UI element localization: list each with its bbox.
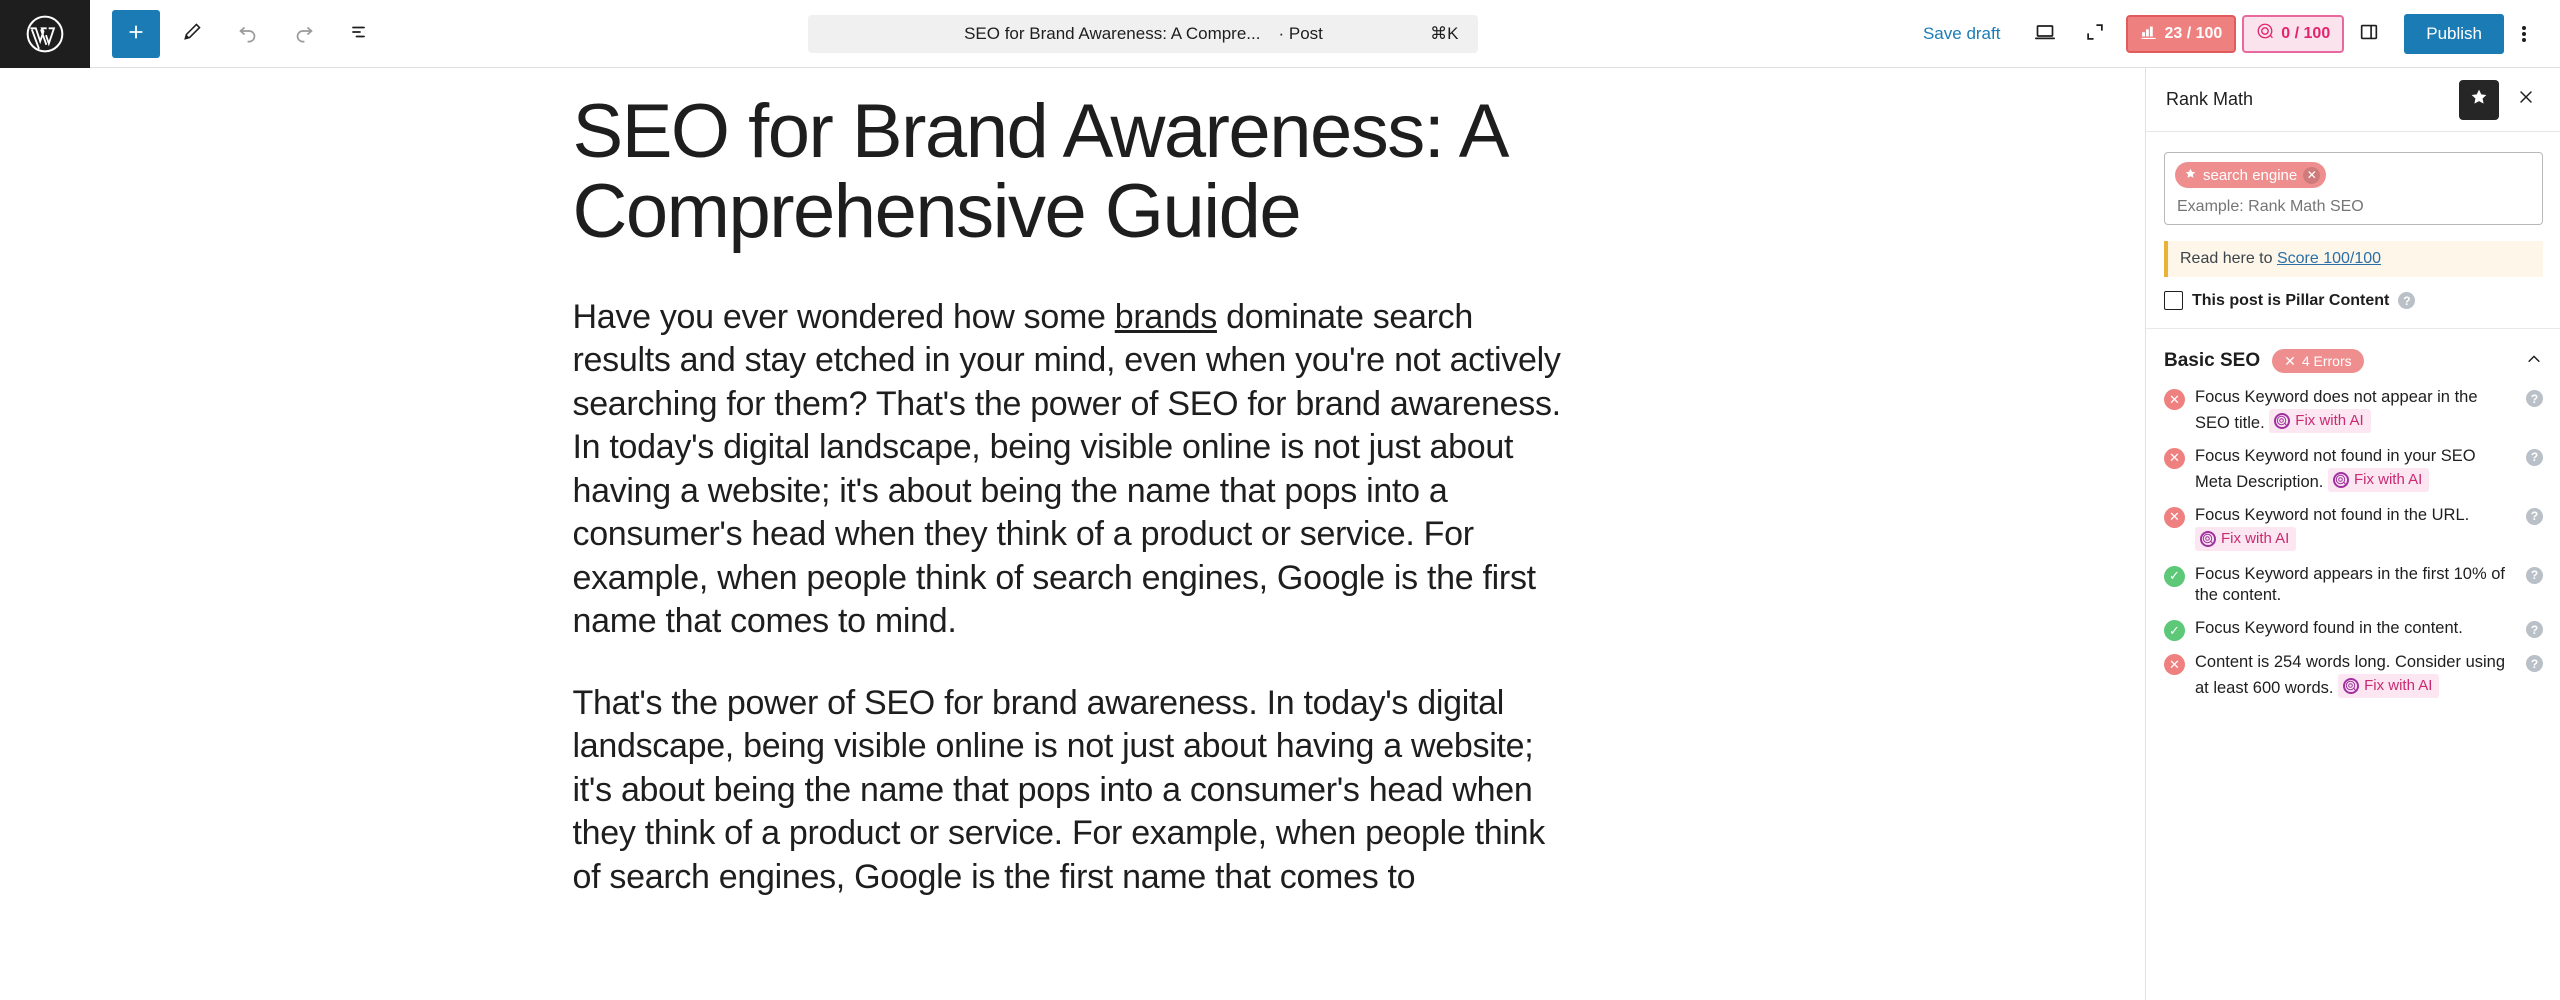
pencil-icon (181, 21, 203, 46)
seo-check-item: ✓Focus Keyword appears in the first 10% … (2164, 564, 2543, 608)
remove-x-icon[interactable]: ✕ (2303, 167, 2320, 184)
rank-math-sidebar: Rank Math search engine ✕ Example (2145, 68, 2560, 1000)
help-question-icon[interactable]: ? (2526, 390, 2543, 407)
document-outline-icon (348, 20, 372, 47)
pillar-content-label: This post is Pillar Content (2192, 292, 2389, 310)
star-icon (2469, 87, 2489, 112)
seo-check-text: Focus Keyword does not appear in the SEO… (2195, 387, 2516, 435)
focus-keyword-chip[interactable]: search engine ✕ (2175, 162, 2326, 188)
redo-button[interactable] (280, 10, 328, 58)
seo-score-badge[interactable]: 23 / 100 (2126, 15, 2236, 53)
score-notice: Read here to Score 100/100 (2164, 241, 2543, 277)
seo-check-item: ✕Focus Keyword not found in the URL. Fix… (2164, 505, 2543, 553)
document-type: · Post (1278, 24, 1322, 44)
basic-seo-check-list: ✕Focus Keyword does not appear in the SE… (2146, 387, 2560, 731)
focus-keyword-input[interactable]: search engine ✕ Example: Rank Math SEO (2164, 152, 2543, 225)
basic-seo-section-header[interactable]: Basic SEO ✕ 4 Errors (2146, 329, 2560, 387)
error-circle-icon: ✕ (2164, 507, 2185, 528)
paragraph-block-2[interactable]: That's the power of SEO for brand awaren… (573, 682, 1573, 900)
help-question-icon[interactable]: ? (2526, 655, 2543, 672)
seo-check-text: Focus Keyword appears in the first 10% o… (2195, 564, 2516, 608)
seo-check-item: ✓Focus Keyword found in the content. ? (2164, 618, 2543, 641)
seo-check-text: Focus Keyword not found in your SEO Meta… (2195, 446, 2516, 494)
check-circle-icon: ✓ (2164, 566, 2185, 587)
fix-with-ai-button[interactable]: Fix with AI (2269, 409, 2370, 433)
chevron-up-icon[interactable] (2525, 350, 2543, 373)
document-title-chip[interactable]: SEO for Brand Awareness: A Compre... · P… (808, 15, 1478, 53)
seo-check-item: ✕Focus Keyword not found in your SEO Met… (2164, 446, 2543, 494)
post-title-field[interactable]: SEO for Brand Awareness: A Comprehensive… (573, 92, 1573, 252)
plus-icon (125, 21, 147, 46)
fix-with-ai-label: Fix with AI (2295, 411, 2363, 431)
pillar-content-row: This post is Pillar Content ? (2164, 291, 2543, 310)
fix-with-ai-label: Fix with AI (2364, 676, 2432, 696)
toolbar-right-group: Save draft 23 / 100 0 / 100 (1903, 11, 2560, 57)
sidebar-header: Rank Math (2146, 68, 2560, 132)
brands-link[interactable]: brands (1115, 298, 1217, 336)
content-ai-icon (2256, 22, 2274, 45)
post-content: SEO for Brand Awareness: A Comprehensive… (573, 68, 1573, 899)
sidebar-body: search engine ✕ Example: Rank Math SEO R… (2146, 132, 2560, 1000)
content-ai-score-badge[interactable]: 0 / 100 (2242, 15, 2344, 53)
star-icon (2184, 167, 2197, 184)
save-draft-button[interactable]: Save draft (1903, 12, 2021, 56)
preview-button[interactable] (2022, 11, 2068, 57)
error-count-label: 4 Errors (2302, 353, 2352, 369)
content-ai-icon (2200, 531, 2216, 547)
focus-keyword-label: search engine (2203, 167, 2297, 184)
help-question-icon[interactable]: ? (2526, 508, 2543, 525)
list-view-button[interactable] (336, 10, 384, 58)
toolbar-left-group (90, 10, 384, 58)
wordpress-logo-icon (25, 14, 65, 54)
seo-check-item: ✕Content is 254 words long. Consider usi… (2164, 652, 2543, 700)
check-circle-icon: ✓ (2164, 620, 2185, 641)
seo-score-value: 23 / 100 (2164, 25, 2222, 43)
x-icon: ✕ (2284, 353, 2296, 370)
editor-top-toolbar: SEO for Brand Awareness: A Compre... · P… (0, 0, 2560, 68)
seo-check-text: Focus Keyword not found in the URL. Fix … (2195, 505, 2516, 553)
document-title: SEO for Brand Awareness: A Compre... (964, 24, 1260, 44)
content-ai-icon (2333, 472, 2349, 488)
rank-math-star-button[interactable] (2459, 80, 2499, 120)
sidebar-title: Rank Math (2166, 89, 2459, 110)
help-question-icon[interactable]: ? (2526, 621, 2543, 638)
pillar-content-checkbox[interactable] (2164, 291, 2183, 310)
close-sidebar-button[interactable] (2505, 79, 2547, 121)
help-question-icon[interactable]: ? (2526, 567, 2543, 584)
undo-button[interactable] (224, 10, 272, 58)
focus-keyword-block: search engine ✕ Example: Rank Math SEO R… (2146, 132, 2560, 329)
settings-sidebar-toggle[interactable] (2346, 11, 2392, 57)
score-notice-prefix: Read here to (2180, 250, 2277, 267)
editor-canvas[interactable]: SEO for Brand Awareness: A Comprehensive… (0, 68, 2145, 1000)
basic-seo-error-badge: ✕ 4 Errors (2272, 349, 2364, 373)
seo-check-text: Focus Keyword found in the content. (2195, 618, 2516, 640)
score-100-link[interactable]: Score 100/100 (2277, 250, 2381, 267)
document-bar-wrapper: SEO for Brand Awareness: A Compre... · P… (384, 15, 1903, 53)
panel-toggle-icon (2358, 21, 2380, 46)
fix-with-ai-label: Fix with AI (2354, 470, 2422, 490)
kebab-menu-icon (2522, 24, 2526, 44)
help-question-icon[interactable]: ? (2526, 449, 2543, 466)
undo-arrow-icon (236, 20, 260, 47)
content-ai-icon (2274, 413, 2290, 429)
seo-check-text: Content is 254 words long. Consider usin… (2195, 652, 2516, 700)
fix-with-ai-button[interactable]: Fix with AI (2328, 468, 2429, 492)
error-circle-icon: ✕ (2164, 654, 2185, 675)
ai-score-value: 0 / 100 (2281, 25, 2330, 43)
basic-seo-heading: Basic SEO (2164, 350, 2260, 372)
paragraph-block-1[interactable]: Have you ever wondered how some brands d… (573, 296, 1573, 644)
fullscreen-toggle-button[interactable] (2072, 11, 2118, 57)
redo-arrow-icon (292, 20, 316, 47)
close-x-icon (2516, 87, 2536, 112)
fix-with-ai-label: Fix with AI (2221, 529, 2289, 549)
publish-button[interactable]: Publish (2404, 14, 2504, 54)
add-block-button[interactable] (112, 10, 160, 58)
help-question-icon[interactable]: ? (2398, 292, 2415, 309)
desktop-preview-icon (2033, 20, 2057, 47)
error-circle-icon: ✕ (2164, 448, 2185, 469)
zoom-out-fullscreen-icon (2084, 21, 2106, 46)
options-menu-button[interactable] (2504, 12, 2544, 56)
content-ai-icon (2343, 678, 2359, 694)
tools-button[interactable] (168, 10, 216, 58)
paragraph-1-text-a: Have you ever wondered how some (573, 298, 1115, 336)
seo-check-item: ✕Focus Keyword does not appear in the SE… (2164, 387, 2543, 435)
error-circle-icon: ✕ (2164, 389, 2185, 410)
fix-with-ai-button[interactable]: Fix with AI (2195, 527, 2296, 551)
fix-with-ai-button[interactable]: Fix with AI (2338, 674, 2439, 698)
wordpress-logo-button[interactable] (0, 0, 90, 68)
rank-math-score-icon (2140, 23, 2157, 45)
command-shortcut: ⌘K (1430, 24, 1458, 44)
focus-keyword-placeholder: Example: Rank Math SEO (2175, 198, 2532, 216)
paragraph-1-text-b: dominate search results and stay etched … (573, 298, 1561, 641)
